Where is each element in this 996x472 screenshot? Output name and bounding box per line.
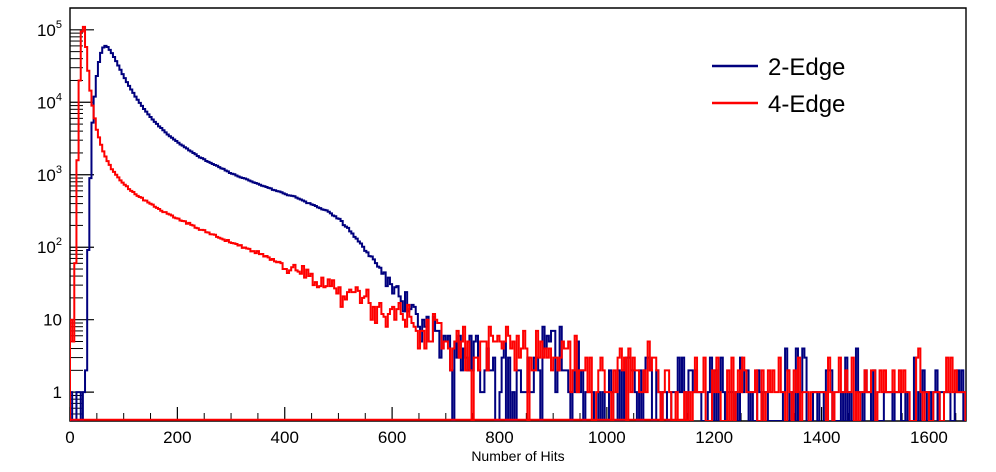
y-tick-label-exponent: 5 xyxy=(56,19,62,31)
legend-label-4-edge: 4-Edge xyxy=(768,91,845,118)
y-tick-label: 10 xyxy=(43,311,62,330)
y-tick-label-exponent: 2 xyxy=(56,236,62,248)
x-tick-label: 600 xyxy=(378,428,406,447)
x-axis-title: Number of Hits xyxy=(471,448,564,464)
x-tick-label: 400 xyxy=(271,428,299,447)
x-tick-label: 200 xyxy=(163,428,191,447)
histogram-plot: 110102103104105 020040060080010001200140… xyxy=(0,0,996,472)
x-tick-label: 0 xyxy=(65,428,74,447)
chart-root: 110102103104105 020040060080010001200140… xyxy=(0,0,996,472)
legend-label-2-edge: 2-Edge xyxy=(768,54,845,81)
x-tick-label: 1000 xyxy=(588,428,626,447)
x-tick-label: 800 xyxy=(485,428,513,447)
x-tick-label: 1400 xyxy=(803,428,841,447)
x-tick-label: 1200 xyxy=(695,428,733,447)
x-tick-label: 1600 xyxy=(910,428,948,447)
y-tick-label-exponent: 4 xyxy=(56,91,62,103)
y-tick-label: 1 xyxy=(53,383,62,402)
y-tick-label-exponent: 3 xyxy=(56,164,62,176)
